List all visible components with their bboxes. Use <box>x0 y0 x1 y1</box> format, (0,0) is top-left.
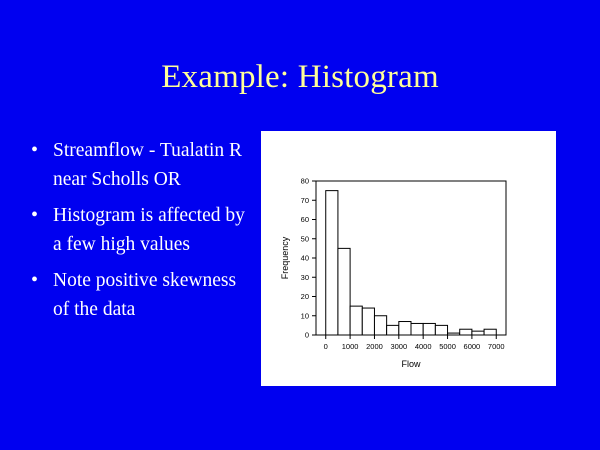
histogram-chart: 0102030405060708001000200030004000500060… <box>261 131 556 386</box>
bullet-point-icon: • <box>24 136 53 165</box>
histogram-bar <box>472 331 484 335</box>
y-tick-label: 20 <box>301 292 309 301</box>
x-tick-label: 2000 <box>366 342 383 351</box>
x-axis-label: Flow <box>401 359 421 369</box>
y-tick-label: 0 <box>305 331 309 340</box>
list-item: • Histogram is affected by a few high va… <box>24 201 246 259</box>
histogram-bar <box>460 329 472 335</box>
x-tick-label: 5000 <box>439 342 456 351</box>
y-tick-label: 10 <box>301 311 309 320</box>
histogram-bar <box>338 248 350 335</box>
histogram-bar <box>399 322 411 335</box>
histogram-bar <box>448 333 460 335</box>
y-axis-label: Frequency <box>280 236 290 279</box>
x-tick-label: 4000 <box>415 342 432 351</box>
y-tick-label: 80 <box>301 177 309 186</box>
histogram-bar <box>435 325 447 335</box>
x-tick-label: 3000 <box>390 342 407 351</box>
bar-series <box>326 191 497 335</box>
histogram-bar <box>387 325 399 335</box>
x-tick-label: 6000 <box>464 342 481 351</box>
histogram-plot-svg: 0102030405060708001000200030004000500060… <box>261 131 556 386</box>
list-item-label: Histogram is affected by a few high valu… <box>53 201 246 259</box>
histogram-bar <box>374 316 386 335</box>
y-tick-label: 70 <box>301 196 309 205</box>
slide-canvas: Example: Histogram • Streamflow - Tualat… <box>0 0 600 450</box>
y-tick-label: 50 <box>301 234 309 243</box>
x-axis: 01000200030004000500060007000 <box>324 335 505 351</box>
list-item: • Streamflow - Tualatin R near Scholls O… <box>24 136 246 194</box>
bullet-list: • Streamflow - Tualatin R near Scholls O… <box>24 136 246 331</box>
bullet-point-icon: • <box>24 266 53 295</box>
y-tick-label: 60 <box>301 215 309 224</box>
y-tick-label: 30 <box>301 273 309 282</box>
x-tick-label: 7000 <box>488 342 505 351</box>
histogram-bar <box>350 306 362 335</box>
histogram-bar <box>411 323 423 335</box>
histogram-chart-panel: 0102030405060708001000200030004000500060… <box>261 131 556 386</box>
x-tick-label: 1000 <box>342 342 359 351</box>
list-item-label: Streamflow - Tualatin R near Scholls OR <box>53 136 246 194</box>
histogram-bar <box>326 191 338 335</box>
y-tick-label: 40 <box>301 254 309 263</box>
list-item-label: Note positive skewness of the data <box>53 266 246 324</box>
page-title: Example: Histogram <box>0 57 600 97</box>
y-axis: 01020304050607080 <box>301 177 316 340</box>
x-tick-label: 0 <box>324 342 328 351</box>
bullet-point-icon: • <box>24 201 53 230</box>
histogram-bar <box>362 308 374 335</box>
list-item: • Note positive skewness of the data <box>24 266 246 324</box>
histogram-bar <box>484 329 496 335</box>
histogram-bar <box>423 323 435 335</box>
